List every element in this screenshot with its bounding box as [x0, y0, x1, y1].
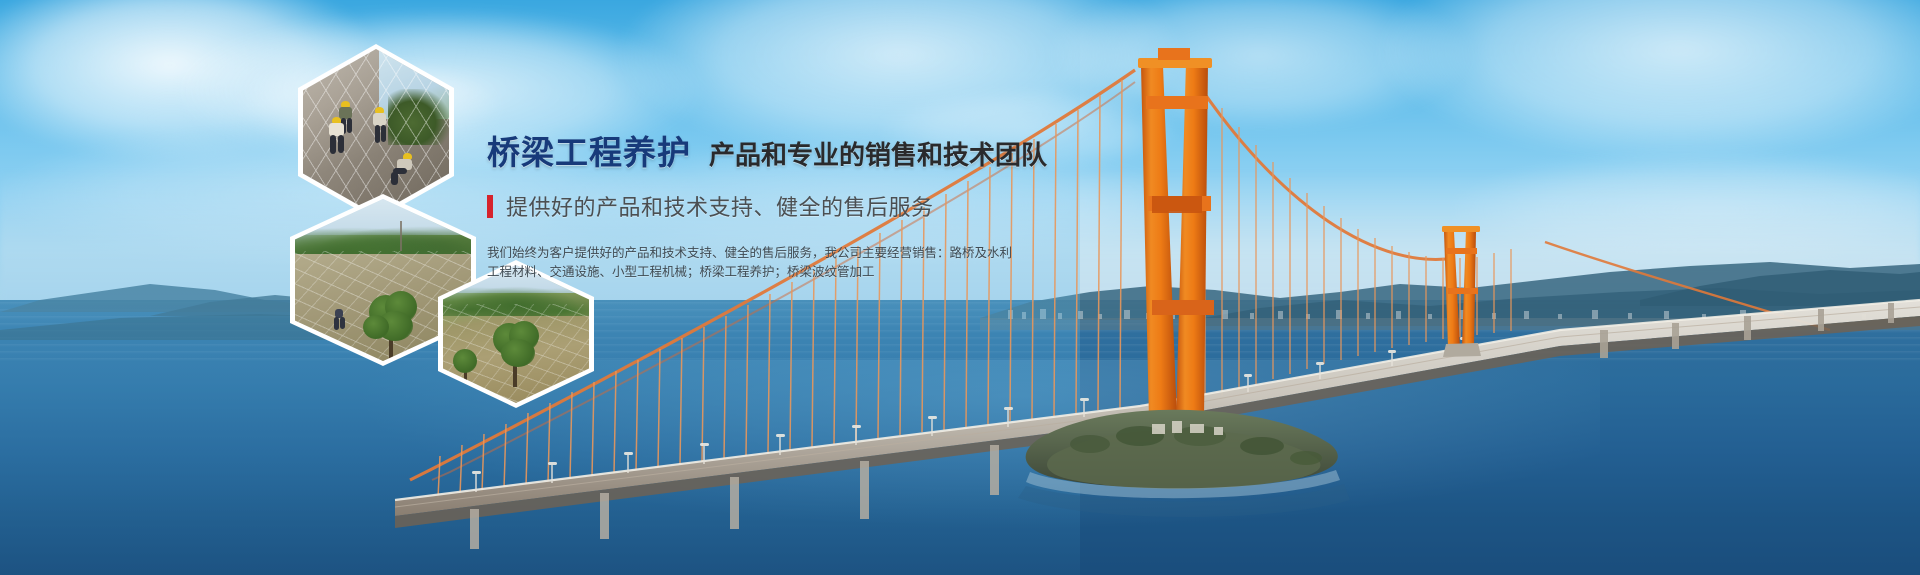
headline-primary: 桥梁工程养护: [487, 126, 691, 174]
distant-islands: [0, 0, 1920, 575]
hex-photo-slope-vegetation[interactable]: [438, 260, 594, 408]
tree: [361, 291, 423, 361]
worker-figure: [327, 117, 347, 155]
body-copy: 我们始终为客户提供好的产品和技术支持、健全的售后服务，我公司主要经营销售：路桥及…: [487, 244, 1107, 282]
subtitle-row: 提供好的产品和技术支持、健全的售后服务: [487, 190, 1107, 222]
worker-figure: [391, 153, 415, 185]
tree: [487, 321, 545, 387]
banner-text-block: 桥梁工程养护 产品和专业的销售和技术团队 提供好的产品和技术支持、健全的售后服务…: [487, 126, 1107, 282]
subtitle: 提供好的产品和技术支持、健全的售后服务: [506, 190, 934, 222]
headline: 桥梁工程养护 产品和专业的销售和技术团队: [487, 126, 1107, 174]
worker-figure: [371, 107, 389, 143]
hero-banner: 桥梁工程养护 产品和专业的销售和技术团队 提供好的产品和技术支持、健全的售后服务…: [0, 0, 1920, 575]
red-accent-bar: [487, 195, 493, 218]
utility-pole: [400, 221, 402, 251]
worker-figure: [331, 309, 347, 331]
body-line-2: 工程材料、交通设施、小型工程机械；桥梁工程养护；桥梁波纹管加工: [487, 263, 1107, 282]
tree: [451, 349, 481, 385]
headline-secondary: 产品和专业的销售和技术团队: [709, 135, 1047, 172]
body-line-1: 我们始终为客户提供好的产品和技术支持、健全的售后服务，我公司主要经营销售：路桥及…: [487, 244, 1107, 263]
